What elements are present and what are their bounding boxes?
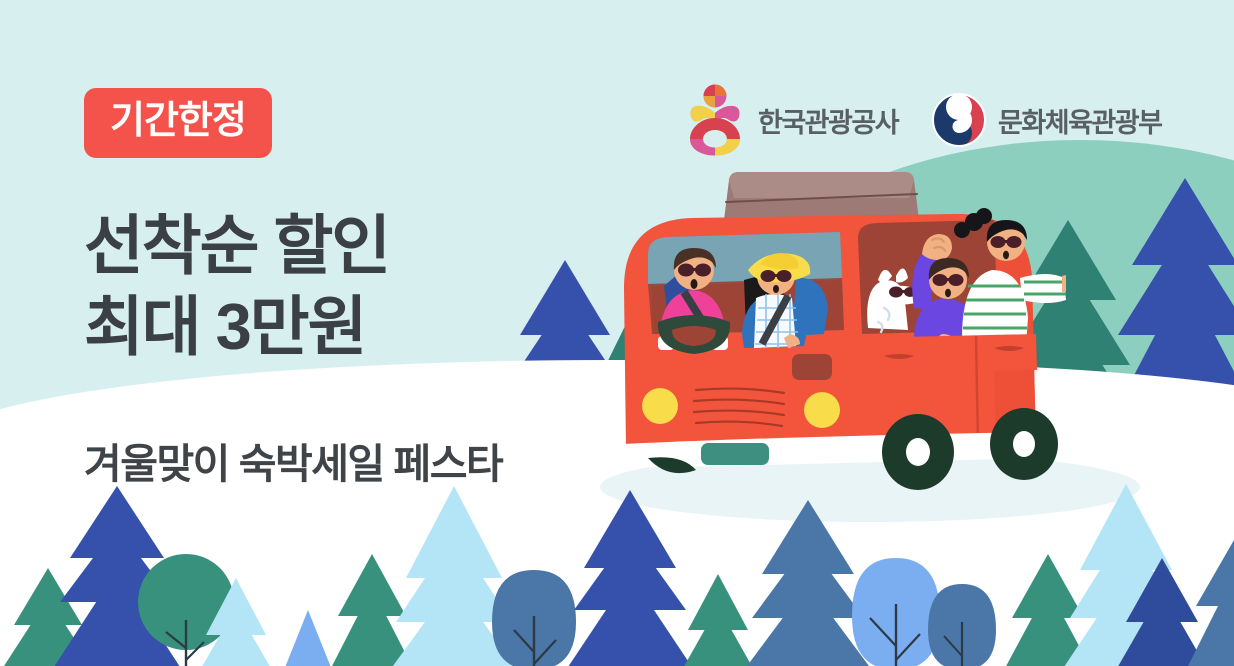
headlight-right <box>804 392 840 428</box>
kto-logo-icon <box>684 84 746 156</box>
headline-line-1: 선착순 할인 <box>84 205 389 286</box>
logo-ministry-culture-sports-tourism: 문화체육관광부 <box>932 93 1161 147</box>
tree-slate-rounded-1 <box>492 570 576 666</box>
kto-logo-label: 한국관광공사 <box>758 101 898 140</box>
tree-teal-2 <box>330 554 414 666</box>
logo-row: 한국관광공사 문화체육관광부 <box>684 84 1161 156</box>
tree-slate-rounded-2 <box>928 584 996 666</box>
headlight-left <box>642 388 678 424</box>
headline-line-2: 최대 3만원 <box>84 286 389 367</box>
tree-cornflower-rounded <box>852 558 940 666</box>
page-title: 선착순 할인 최대 3만원 <box>84 205 389 368</box>
logo-korea-tourism-organization: 한국관광공사 <box>684 84 898 156</box>
tree-slate-1 <box>744 500 872 666</box>
bus-illustration <box>596 158 1066 508</box>
mcst-logo-icon <box>932 93 986 147</box>
promo-banner: 기간한정 선착순 할인 최대 3만원 겨울맞이 숙박세일 페스타 <box>0 0 1234 666</box>
mcst-logo-label: 문화체육관광부 <box>998 101 1161 140</box>
tree-teal-3 <box>682 574 754 666</box>
roof-luggage-box <box>724 172 919 220</box>
foreground-forest <box>0 470 1234 666</box>
tree-royal-blue-2 <box>566 490 694 666</box>
tree-cornflower-1 <box>284 610 332 666</box>
license-plate <box>701 443 769 465</box>
limited-time-badge: 기간한정 <box>84 88 272 158</box>
